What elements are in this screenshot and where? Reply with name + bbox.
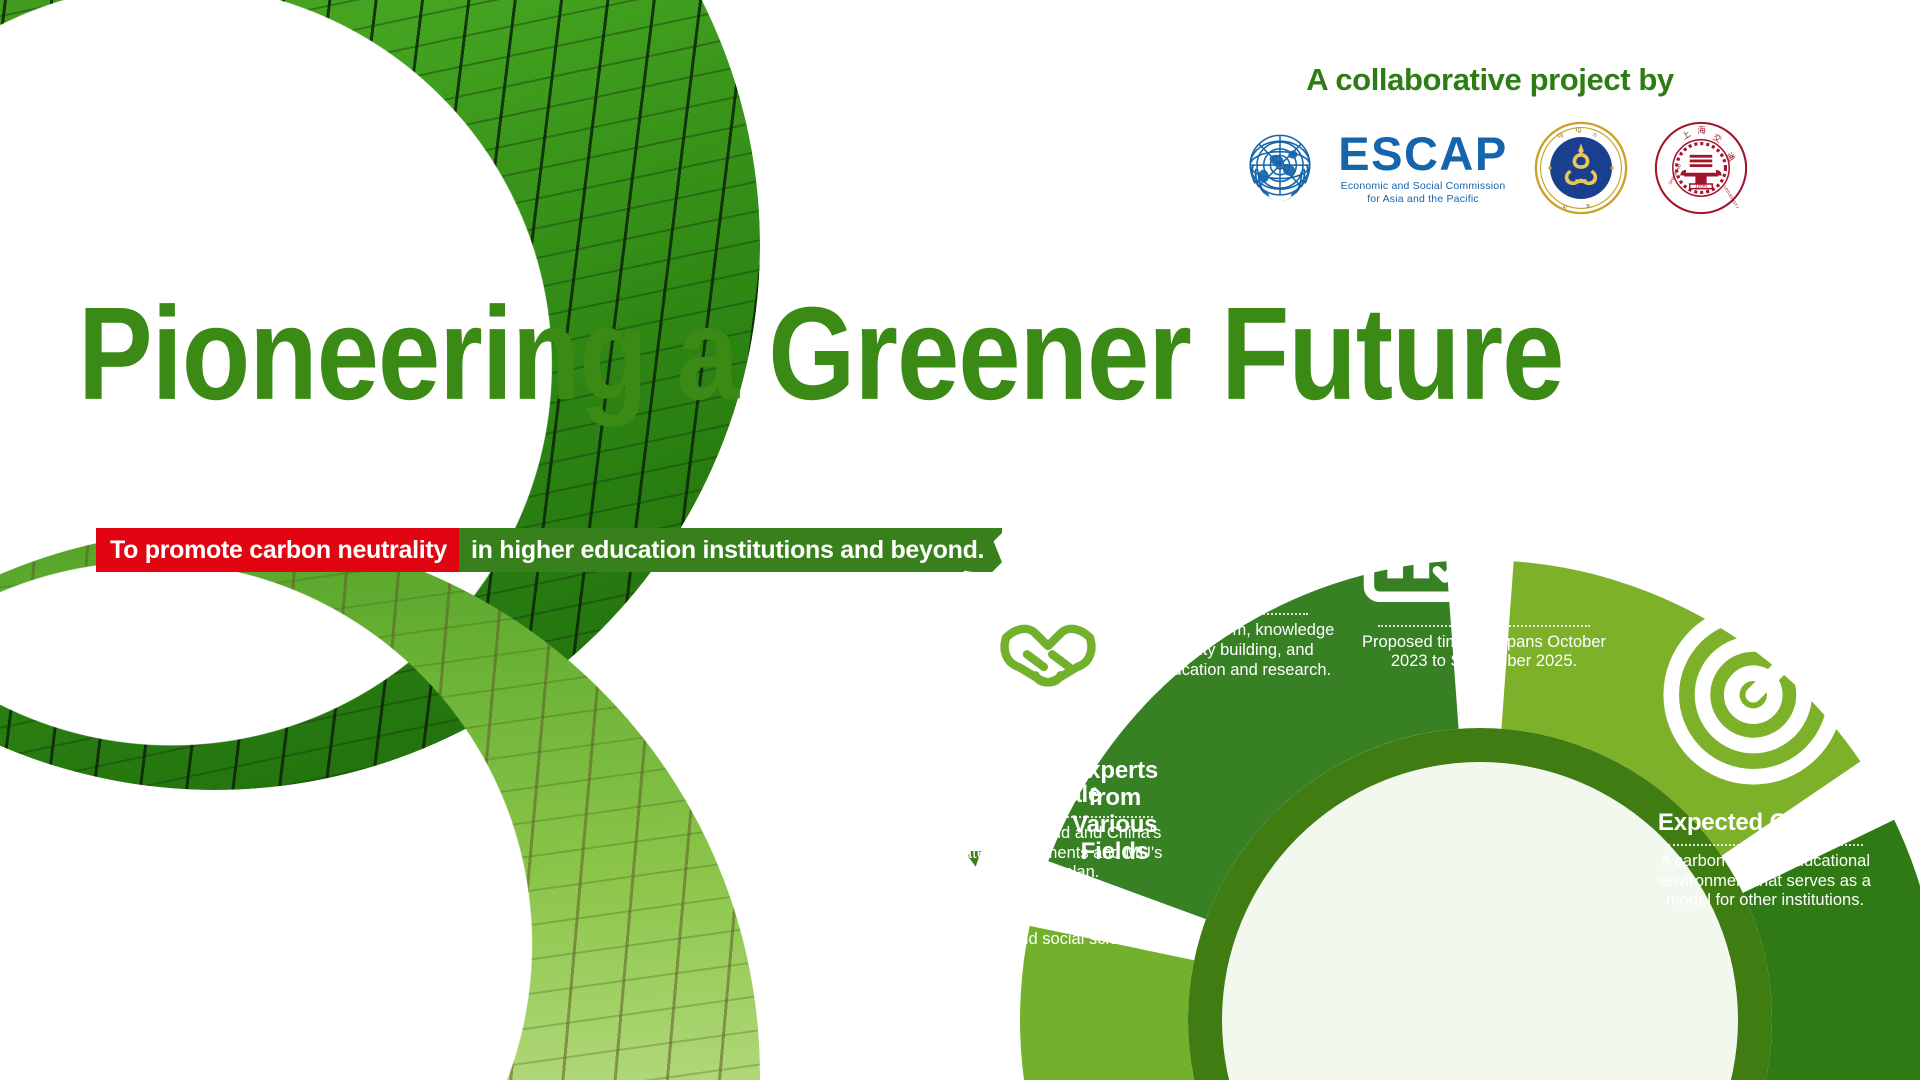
escap-acronym: ESCAP [1338,130,1507,177]
photo-bottom-fade [0,940,770,1080]
tagline-highlight: To promote carbon neutrality [96,528,459,572]
mahidol-seal-icon: ญ ญ ก ม ล [1534,121,1628,215]
tagline-rest: in higher education institutions and bey… [459,528,1002,572]
sjtu-seal-icon: 1896 上 海 交 通 SHANGHAI UNIVERSITY [1654,121,1748,215]
un-escap-logo: ESCAP Economic and Social Commission for… [1232,120,1507,216]
tagline-banner: To promote carbon neutrality in higher e… [96,528,1002,572]
escap-wordmark: ESCAP Economic and Social Commission for… [1338,130,1507,206]
collaborative-project-header: A collaborative project by [1180,62,1800,216]
escap-subtitle-line1: Economic and Social Commission [1338,180,1507,193]
infographic-canvas: A collaborative project by [0,0,1920,1080]
svg-text:1896: 1896 [1694,184,1707,190]
svg-text:ญ: ญ [1575,126,1581,133]
partner-logo-row: ESCAP Economic and Social Commission for… [1180,120,1800,216]
shanghai-jiao-tong-university-seal: 1896 上 海 交 通 SHANGHAI UNIVERSITY [1654,121,1748,215]
un-emblem-icon [1232,120,1328,216]
collaborative-project-title: A collaborative project by [1180,62,1800,98]
donut-svg [1020,440,1920,1080]
escap-subtitle: Economic and Social Commission for Asia … [1338,180,1507,206]
key-points-donut-chart: Activities forming an expert platform, k… [1020,440,1920,1080]
escap-subtitle-line2: for Asia and the Pacific [1338,193,1507,206]
page-title: Pioneering a Greener Future [78,288,1868,420]
svg-text:海: 海 [1697,125,1706,135]
mahidol-university-seal: ญ ญ ก ม ล [1534,121,1628,215]
